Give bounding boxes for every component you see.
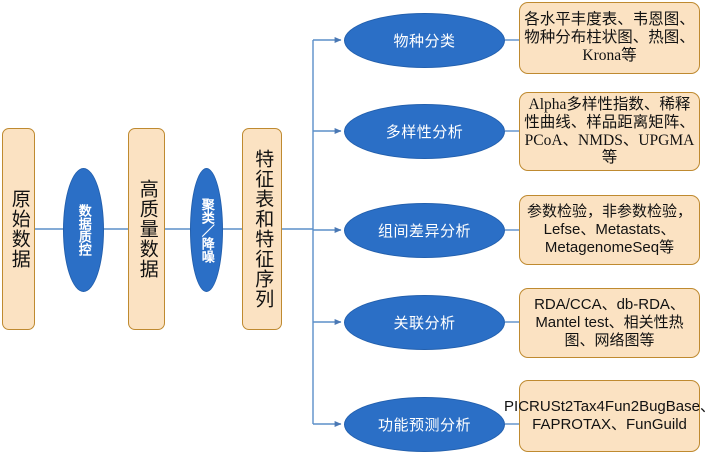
results-diversity[interactable]: Alpha多样性指数、稀释性曲线、样品距离矩阵、PCoA、NMDS、UPGMA等 xyxy=(519,92,700,171)
stage-group-difference[interactable]: 组间差异分析 xyxy=(344,203,505,258)
branch-arrow-group xyxy=(313,40,341,424)
node-feature-table[interactable]: 特征表和特征序列 xyxy=(242,128,282,330)
stage-taxonomy[interactable]: 物种分类 xyxy=(344,13,505,68)
result-connector-group xyxy=(505,40,519,424)
node-data-qc[interactable]: 数据质控 xyxy=(63,168,104,292)
node-cluster-denoise[interactable]: 聚类／降噪 xyxy=(190,168,223,292)
node-cluster-denoise-label: 聚类／降噪 xyxy=(199,198,214,263)
node-raw-data-label: 原始数据 xyxy=(8,189,29,269)
results-correlation[interactable]: RDA/CCA、db-RDA、Mantel test、相关性热图、网络图等 xyxy=(519,288,700,358)
results-group-difference[interactable]: 参数检验，非参数检验，Lefse、Metastats、MetagenomeSeq… xyxy=(519,195,700,265)
results-taxonomy[interactable]: 各水平丰度表、韦恩图、物种分布柱状图、热图、Krona等 xyxy=(519,2,700,74)
node-high-quality-data[interactable]: 高质量数据 xyxy=(128,128,165,330)
node-high-quality-data-label: 高质量数据 xyxy=(136,179,157,279)
node-raw-data[interactable]: 原始数据 xyxy=(2,128,35,330)
node-feature-table-label: 特征表和特征序列 xyxy=(252,149,273,309)
stage-function-prediction[interactable]: 功能预测分析 xyxy=(344,397,505,452)
results-function-prediction[interactable]: PICRUSt2Tax4Fun2BugBase、 FAPROTAX、FunGui… xyxy=(519,380,700,452)
node-data-qc-label: 数据质控 xyxy=(76,204,91,256)
stage-diversity[interactable]: 多样性分析 xyxy=(344,104,505,159)
flowchart-canvas: 原始数据 数据质控 高质量数据 聚类／降噪 特征表和特征序列 物种分类 多样性分… xyxy=(0,0,706,460)
stage-correlation[interactable]: 关联分析 xyxy=(344,295,505,350)
